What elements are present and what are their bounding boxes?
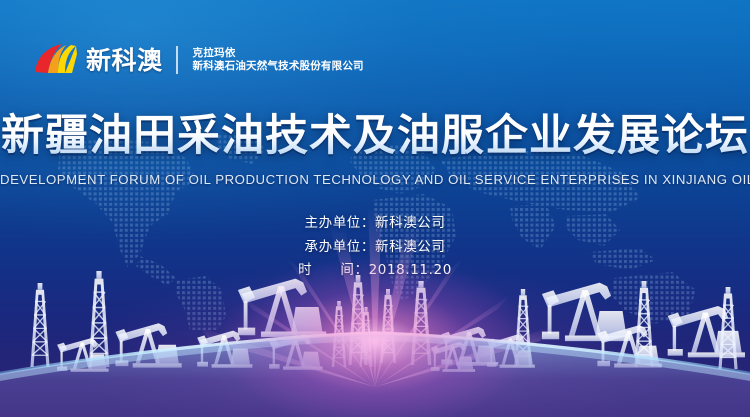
brand-name-cn: 新科澳 (86, 48, 163, 73)
xinkeao-swoosh-logo-icon (32, 40, 78, 80)
info-row-date: 时 间：2018.11.20 (0, 259, 750, 283)
company-city: 克拉玛依 (193, 47, 364, 60)
info-row-host: 承办单位：新科澳公司 (0, 236, 750, 260)
poster-title-cn: 新疆油田采油技术及油服企业发展论坛 (0, 112, 750, 160)
poster-title-en: DEVELOPMENT FORUM OF OIL PRODUCTION TECH… (0, 172, 750, 187)
info-row-organizer: 主办单位：新科澳公司 (0, 212, 750, 236)
company-full-name: 新科澳石油天然气技术股份有限公司 (193, 60, 364, 73)
curved-horizon-line (0, 333, 750, 377)
company-logo-block: 新科澳 克拉玛依 新科澳石油天然气技术股份有限公司 (32, 40, 364, 80)
company-subtitle: 克拉玛依 新科澳石油天然气技术股份有限公司 (193, 47, 364, 74)
event-info-block: 主办单位：新科澳公司 承办单位：新科澳公司 时 间：2018.11.20 (0, 212, 750, 283)
logo-divider (176, 46, 178, 74)
curved-ground (0, 333, 750, 417)
horizon-glow (0, 337, 750, 381)
conference-poster: 新科澳 克拉玛依 新科澳石油天然气技术股份有限公司 新疆油田采油技术及油服企业发… (0, 0, 750, 417)
